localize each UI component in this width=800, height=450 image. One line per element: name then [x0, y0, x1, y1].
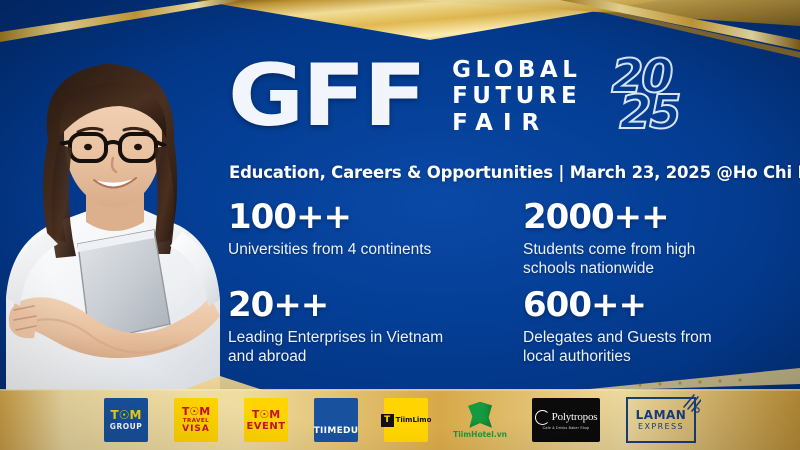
sponsor-logo-line1: TiimHotel.vn	[453, 431, 507, 439]
sponsor-logo-line2: TiimLimo	[396, 417, 432, 424]
sponsor-laman-express[interactable]: LAMAN EXPRESS	[626, 397, 696, 443]
stat-number: 20++	[228, 288, 523, 324]
sponsor-logo-line1: Polytropos	[552, 412, 598, 423]
event-subtitle: Education, Careers & Opportunities | Mar…	[229, 163, 785, 182]
sponsor-tiim-travel-visa[interactable]: T☉M TRAVEL VISA	[174, 398, 218, 442]
sponsor-tiimlimo[interactable]: T TiimLimo	[384, 398, 428, 442]
stat-students: 2000++ Students come from high schools n…	[523, 200, 784, 288]
year-bottom-digits: 25	[619, 89, 679, 135]
stat-number: 600++	[523, 288, 784, 324]
sponsor-logo-line1: TIIMEDU	[314, 427, 359, 436]
sponsor-tiimedu[interactable]: TIIMEDU	[314, 398, 358, 442]
sponsor-tiimhotel[interactable]: TiimHotel.vn	[454, 402, 506, 439]
stat-number: 2000++	[523, 200, 784, 236]
leaf-icon	[468, 402, 492, 428]
stat-universities: 100++ Universities from 4 continents	[228, 200, 523, 288]
speed-lines-icon	[681, 393, 701, 419]
sponsor-logo-line1: T☉M	[111, 409, 142, 421]
sponsor-logo-line3: VISA	[182, 425, 210, 434]
sponsor-logo-line2: Cafe & Drinks Baker Shop	[543, 427, 590, 431]
circle-icon	[535, 410, 550, 425]
sponsor-logo-bar: T☉M GROUP T☉M TRAVEL VISA T☉M EVENT TIIM…	[0, 390, 800, 450]
sponsor-tiim-group[interactable]: T☉M GROUP	[104, 398, 148, 442]
stat-description: Students come from high schools nationwi…	[523, 240, 738, 279]
name-line-future: FUTURE	[452, 84, 581, 108]
hero-student-photo	[0, 48, 244, 400]
sponsor-logo-line1: T☉M	[252, 409, 280, 420]
name-line-fair: FAIR	[452, 111, 581, 135]
sponsor-tiim-event[interactable]: T☉M EVENT	[244, 398, 288, 442]
sponsor-logo-line2: EVENT	[246, 422, 285, 432]
stat-number: 100++	[228, 200, 523, 236]
sponsor-logo-line2: GROUP	[110, 423, 142, 431]
sponsor-polytropos[interactable]: Polytropos Cafe & Drinks Baker Shop	[532, 398, 600, 442]
headline-lockup: GFF GLOBAL FUTURE FAIR 20 25	[228, 44, 780, 149]
stat-description: Universities from 4 continents	[228, 240, 463, 259]
name-line-global: GLOBAL	[452, 58, 581, 82]
sponsor-logo-line2: EXPRESS	[638, 423, 684, 431]
year-badge-2025: 20 25	[605, 51, 697, 143]
full-event-name: GLOBAL FUTURE FAIR	[452, 58, 581, 134]
gff-acronym: GFF	[228, 61, 425, 132]
sponsor-logo-line1: T☉M	[182, 406, 210, 417]
event-poster: GFF GLOBAL FUTURE FAIR 20 25 Education, …	[0, 0, 800, 450]
sponsor-logo-line1: LAMAN	[636, 409, 687, 421]
sponsor-logo-mark: T	[381, 414, 394, 427]
